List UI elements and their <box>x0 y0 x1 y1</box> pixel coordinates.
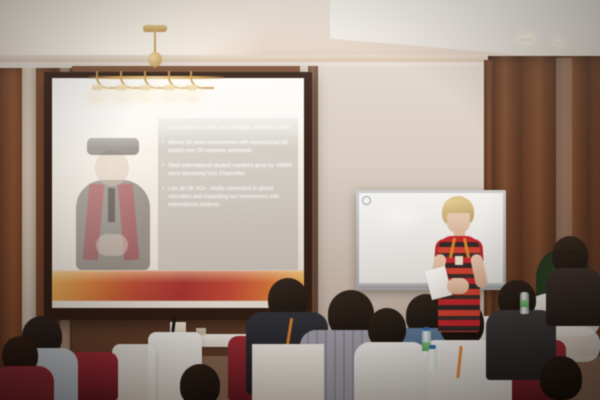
table-cloth <box>252 344 324 400</box>
portrait-hands <box>96 234 128 256</box>
conference-room-photo: • Just started my 38th year in Higher Ed… <box>0 0 600 400</box>
audience-member <box>356 308 426 400</box>
slide-bullet-text: Like all UK VCs - totally committed to g… <box>168 185 293 209</box>
audience-head <box>540 356 582 400</box>
chandelier <box>86 28 226 116</box>
presenter-fringe <box>443 200 473 213</box>
glasses-icon <box>555 252 583 259</box>
chandelier-ball <box>148 52 162 67</box>
chandelier-lamp-shade <box>113 90 130 102</box>
audience-member <box>530 356 600 400</box>
audience-member-with-glasses <box>544 236 600 328</box>
whiteboard-logo-icon <box>362 196 371 205</box>
presenter-name-badge <box>455 256 463 265</box>
bullet-dot-icon: • <box>162 162 164 178</box>
portrait-face <box>95 150 129 186</box>
audience-torso <box>354 342 428 400</box>
audience-member <box>176 364 236 400</box>
ceiling-light-icon <box>520 36 533 41</box>
presenter-hands <box>447 278 469 294</box>
chandelier-lamp-shade <box>89 90 106 102</box>
audience-torso <box>0 366 54 400</box>
ceiling-light-icon <box>556 40 561 44</box>
chandelier-crystal <box>106 82 109 91</box>
chandelier-lamp-shade <box>137 90 154 102</box>
audience-member <box>0 336 58 400</box>
chandelier-lamp-shade <box>183 90 200 102</box>
audience-torso <box>546 268 600 326</box>
slide-bullet-item: • Like all UK VCs - totally committed to… <box>162 185 293 209</box>
chandelier-lamp-shade <box>161 90 178 102</box>
portrait-tie <box>108 188 115 222</box>
chandelier-crystal <box>178 82 181 91</box>
bullet-dot-icon: • <box>162 185 164 209</box>
slide-bullet-item: • Seen international student numbers gro… <box>162 162 293 178</box>
bottle-label <box>520 300 529 307</box>
presenter <box>424 196 494 356</box>
chandelier-crystal <box>130 82 133 91</box>
chandelier-crystal <box>154 82 157 91</box>
covered-chair <box>112 344 156 400</box>
audience-head <box>180 364 220 400</box>
slide-bullet-text: Seen international student numbers grow … <box>168 162 293 178</box>
